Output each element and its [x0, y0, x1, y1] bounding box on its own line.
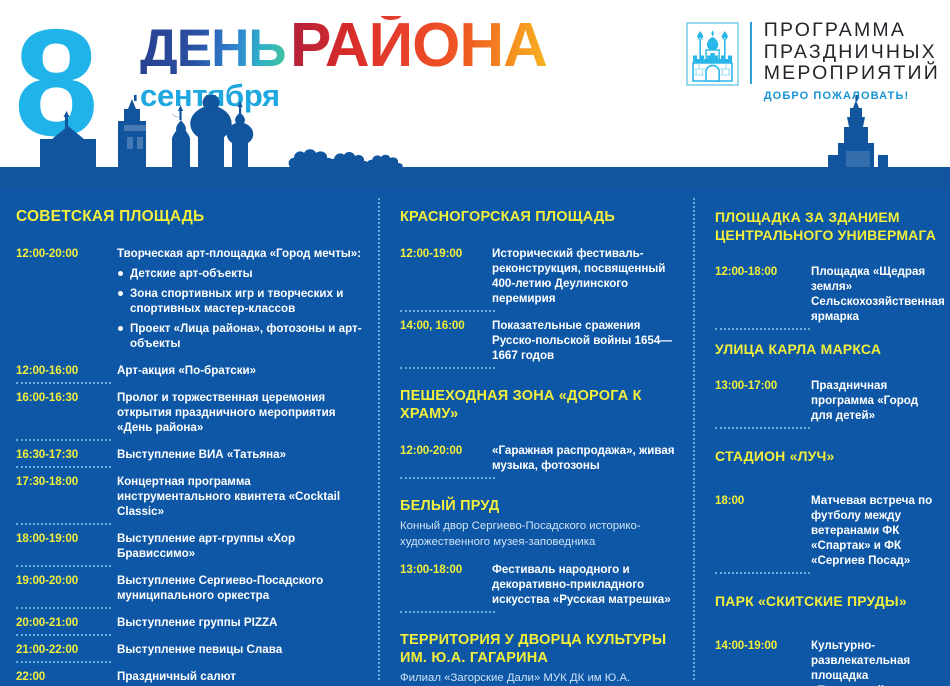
list-item: Зона спортивных игр и творческих и спорт…	[117, 286, 362, 316]
program-panel: СОВЕТСКАЯ ПЛОЩАДЬ 12:00-20:00 Творческая…	[0, 190, 950, 686]
schedule-row: 18:00 Матчевая встреча по футболу между …	[715, 487, 938, 574]
venue-title-sovetskaya: СОВЕТСКАЯ ПЛОЩАДЬ	[16, 208, 362, 226]
schedule-row: 13:00-17:00 Праздничная программа «Город…	[715, 372, 938, 429]
list-item: Проект «Лица района», фотозоны и арт-объ…	[117, 321, 362, 351]
row-desc: Выступление певицы Слава	[117, 642, 362, 657]
venue-title-peshehodnaya-zona: ПЕШЕХОДНАЯ ЗОНА «ДОРОГА К ХРАМУ»	[400, 387, 679, 423]
row-desc: Исторический фестиваль-реконструкция, по…	[492, 246, 679, 306]
venue-title-karla-marksa: УЛИЦА КАРЛА МАРКСА	[715, 340, 938, 358]
city-skyline-silhouette-icon	[0, 95, 950, 190]
row-desc: Показательные сражения Русско-польской в…	[492, 318, 679, 363]
row-time: 14:00-19:00	[715, 638, 811, 653]
row-time: 12:00-16:00	[16, 363, 117, 378]
schedule-row: 17:30-18:00 Концертная программа инструм…	[16, 468, 362, 525]
schedule-row: 13:00-18:00 Фестиваль народного и декора…	[400, 556, 679, 613]
schedule-list-left: 12:00-20:00 Творческая арт-площадка «Гор…	[16, 240, 362, 686]
venue-title-dvorec-kultury: ТЕРРИТОРИЯ У ДВОРЦА КУЛЬТУРЫ ИМ. Ю.А. ГА…	[400, 631, 679, 667]
logo-divider	[750, 22, 752, 84]
row-time: 13:00-17:00	[715, 378, 811, 393]
venue-title-universmag: ПЛОЩАДКА ЗА ЗДАНИЕМ ЦЕНТРАЛЬНОГО УНИВЕРМ…	[715, 208, 938, 244]
row-desc: Матчевая встреча по футболу между ветера…	[811, 493, 938, 568]
row-desc: Выступление ВИА «Татьяна»	[117, 447, 362, 462]
schedule-row: 22:00 Праздничный салют В течение всего …	[16, 663, 362, 686]
row-time: 14:00, 16:00	[400, 318, 492, 333]
row-bullets: Детские арт-объекты Зона спортивных игр …	[117, 266, 362, 351]
schedule-row: 12:00-20:00 «Гаражная распродажа», живая…	[400, 437, 679, 479]
venue-note-bely-prud: Конный двор Сергиево-Посадского историко…	[400, 519, 679, 550]
poster-header: 8 ДЕНЬ РАЙОНА сентября	[0, 0, 950, 190]
schedule-row: 12:00-18:00 Площадка «Щедрая земля» Сель…	[715, 258, 938, 330]
program-line-3: МЕРОПРИЯТИЙ	[764, 63, 940, 85]
schedule-row: 12:00-16:00 Арт-акция «По-братски»	[16, 357, 362, 384]
row-time: 12:00-19:00	[400, 246, 492, 261]
row-desc: Выступление группы PIZZA	[117, 615, 362, 630]
row-time: 18:00-19:00	[16, 531, 117, 546]
row-time: 17:30-18:00	[16, 474, 117, 489]
schedule-row: 14:00, 16:00 Показательные сражения Русс…	[400, 312, 679, 369]
schedule-row: 16:30-17:30 Выступление ВИА «Татьяна»	[16, 441, 362, 468]
row-time: 20:00-21:00	[16, 615, 117, 630]
row-time: 12:00-20:00	[16, 246, 117, 261]
row-desc-text: Творческая арт-площадка «Город мечты»:	[117, 247, 361, 260]
venue-title-krasnogorskaya: КРАСНОГОРСКАЯ ПЛОЩАДЬ	[400, 208, 679, 226]
column-middle: КРАСНОГОРСКАЯ ПЛОЩАДЬ 12:00-19:00 Истори…	[378, 190, 693, 686]
column-right: ПЛОЩАДКА ЗА ЗДАНИЕМ ЦЕНТРАЛЬНОГО УНИВЕРМ…	[693, 190, 950, 686]
row-desc: Площадка «Щедрая земля» Сельскохозяйстве…	[811, 264, 945, 324]
venue-title-stadion-luch: СТАДИОН «ЛУЧ»	[715, 447, 938, 465]
row-time: 22:00	[16, 669, 117, 684]
row-desc: Культурно-развлекательная площадка «Твор…	[811, 638, 938, 686]
event-program-poster: 8 ДЕНЬ РАЙОНА сентября	[0, 0, 950, 686]
row-time: 19:00-20:00	[16, 573, 117, 588]
venue-title-skitskie-prudy: ПАРК «СКИТСКИЕ ПРУДЫ»	[715, 592, 938, 610]
row-time: 16:00-16:30	[16, 390, 117, 405]
row-desc: Праздничная программа «Город для детей»	[811, 378, 938, 423]
schedule-row: 18:00-19:00 Выступление арт-группы «Хор …	[16, 525, 362, 567]
schedule-row: 16:00-16:30 Пролог и торжественная церем…	[16, 384, 362, 441]
row-desc: «Гаражная распродажа», живая музыка, фот…	[492, 443, 679, 473]
list-item: Детские арт-объекты	[117, 266, 362, 281]
row-time: 12:00-20:00	[400, 443, 492, 458]
title-line-den: ДЕНЬ	[140, 24, 285, 74]
row-desc: Выступление Сергиево-Посадского муниципа…	[117, 573, 362, 603]
row-desc: Пролог и торжественная церемония открыти…	[117, 390, 362, 435]
row-time: 18:00	[715, 493, 811, 508]
program-logo-text: ПРОГРАММА ПРАЗДНИЧНЫХ МЕРОПРИЯТИЙ ДОБРО …	[764, 20, 940, 102]
schedule-row: 21:00-22:00 Выступление певицы Слава	[16, 636, 362, 663]
schedule-row: 14:00-19:00 Культурно-развлекательная пл…	[715, 632, 938, 686]
row-time: 12:00-18:00	[715, 264, 811, 279]
venue-note-dvorec-kultury: Филиал «Загорские Дали» МУК ДК им Ю.А. Г…	[400, 671, 679, 686]
schedule-row: 20:00-21:00 Выступление группы PIZZA	[16, 609, 362, 636]
coat-of-arms-icon	[686, 22, 739, 86]
schedule-row: 12:00-19:00 Исторический фестиваль-рекон…	[400, 240, 679, 312]
row-time: 16:30-17:30	[16, 447, 117, 462]
program-line-1: ПРОГРАММА	[764, 20, 940, 42]
row-desc: Праздничный салют В течение всего дня бе…	[117, 669, 362, 686]
schedule-row: 12:00-20:00 Творческая арт-площадка «Гор…	[16, 240, 362, 357]
program-logo: ПРОГРАММА ПРАЗДНИЧНЫХ МЕРОПРИЯТИЙ ДОБРО …	[686, 20, 940, 102]
schedule-row: 19:00-20:00 Выступление Сергиево-Посадск…	[16, 567, 362, 609]
venue-title-bely-prud: БЕЛЫЙ ПРУД	[400, 497, 679, 515]
title-line-rayona: РАЙОНА	[290, 16, 547, 76]
row-desc: Фестиваль народного и декоративно-прикла…	[492, 562, 679, 607]
row-time: 21:00-22:00	[16, 642, 117, 657]
column-left: СОВЕТСКАЯ ПЛОЩАДЬ 12:00-20:00 Творческая…	[0, 190, 378, 686]
row-time: 13:00-18:00	[400, 562, 492, 577]
row-desc: Арт-акция «По-братски»	[117, 363, 362, 378]
row-desc: Творческая арт-площадка «Город мечты»: Д…	[117, 246, 362, 351]
row-desc: Концертная программа инструментального к…	[117, 474, 362, 519]
row-desc: Выступление арт-группы «Хор Брависсимо»	[117, 531, 362, 561]
program-line-2: ПРАЗДНИЧНЫХ	[764, 42, 940, 64]
